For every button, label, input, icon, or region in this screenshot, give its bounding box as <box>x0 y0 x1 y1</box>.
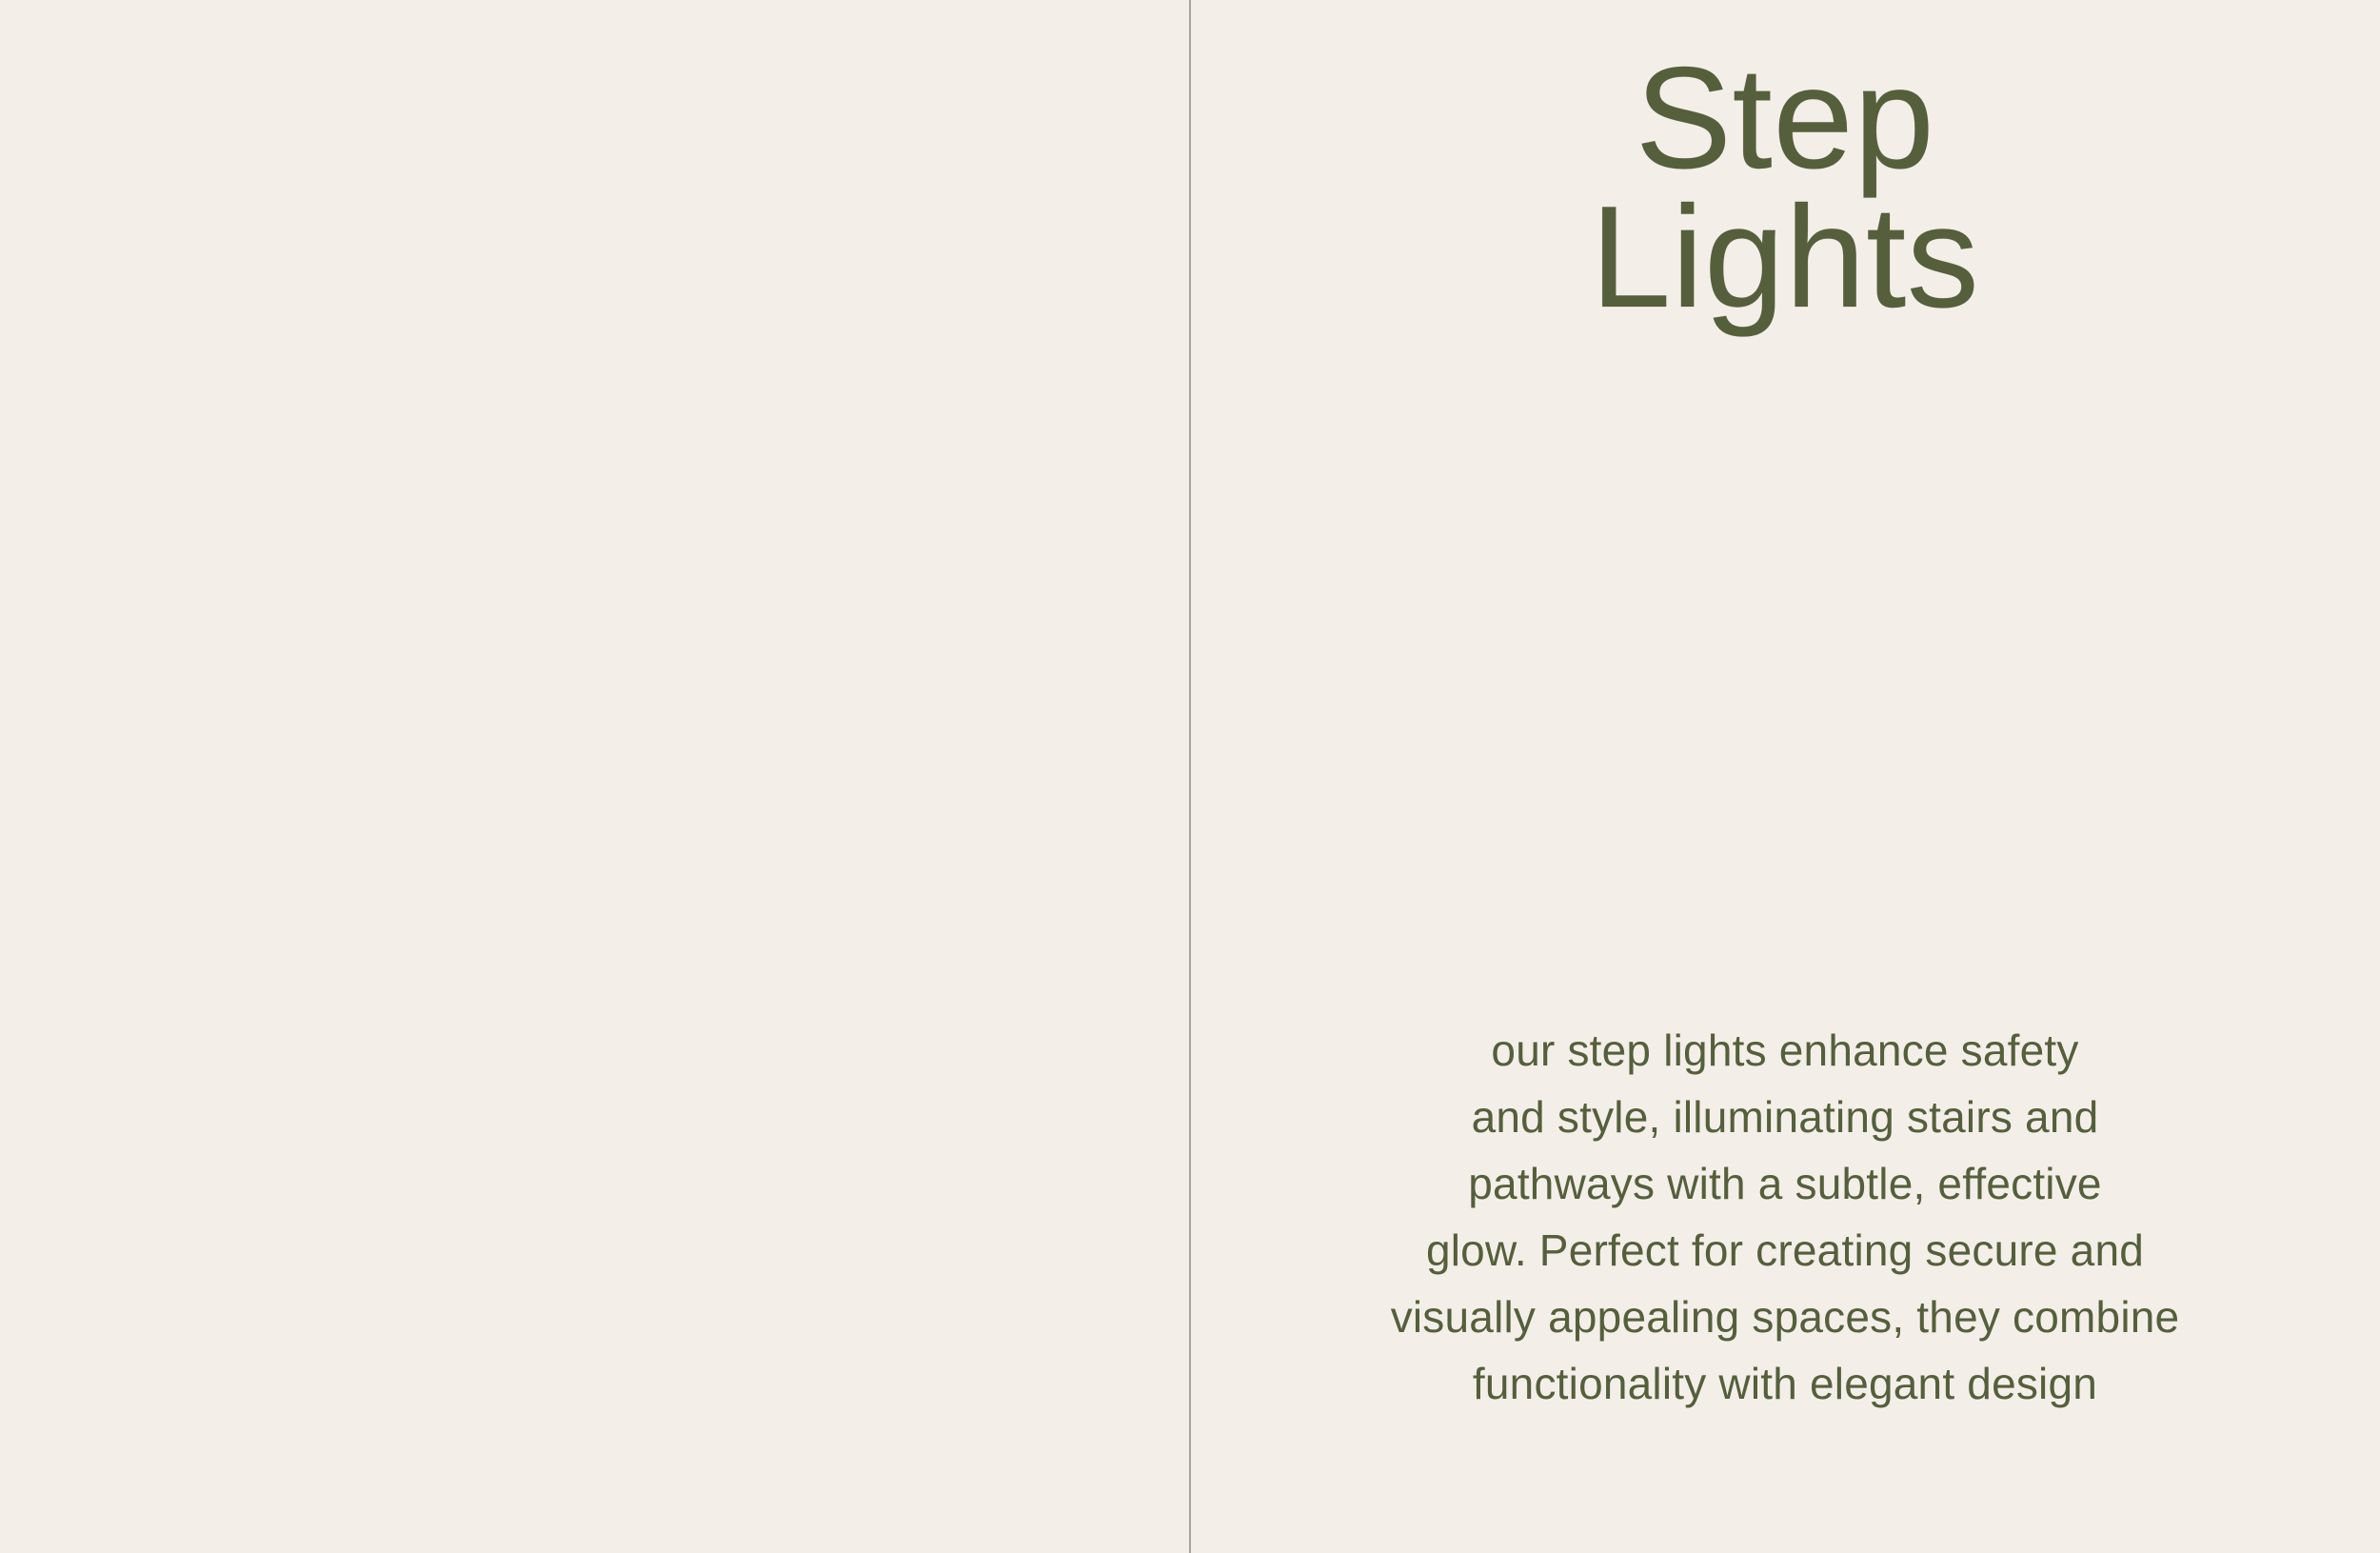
product-description: our step lights enhance safety and style… <box>1190 1017 2380 1417</box>
page-title-line-1: Step <box>1190 50 2380 187</box>
description-line-2: and style, illuminating stairs and <box>1209 1084 2361 1150</box>
page-title: Step Lights <box>1190 50 2380 326</box>
description-line-5: visually appealing spaces, they combine <box>1209 1284 2361 1350</box>
description-line-1: our step lights enhance safety <box>1209 1017 2361 1084</box>
vertical-divider <box>1189 0 1191 1553</box>
right-panel: Step Lights our step lights enhance safe… <box>1190 0 2380 1553</box>
description-line-6: functionality with elegant design <box>1209 1350 2361 1417</box>
product-image-placeholder <box>0 0 1190 1553</box>
page-title-line-2: Lights <box>1190 189 2380 326</box>
left-panel <box>0 0 1190 1553</box>
product-spread: Step Lights our step lights enhance safe… <box>0 0 2380 1553</box>
description-line-4: glow. Perfect for creating secure and <box>1209 1217 2361 1284</box>
description-line-3: pathways with a subtle, effective <box>1209 1150 2361 1217</box>
